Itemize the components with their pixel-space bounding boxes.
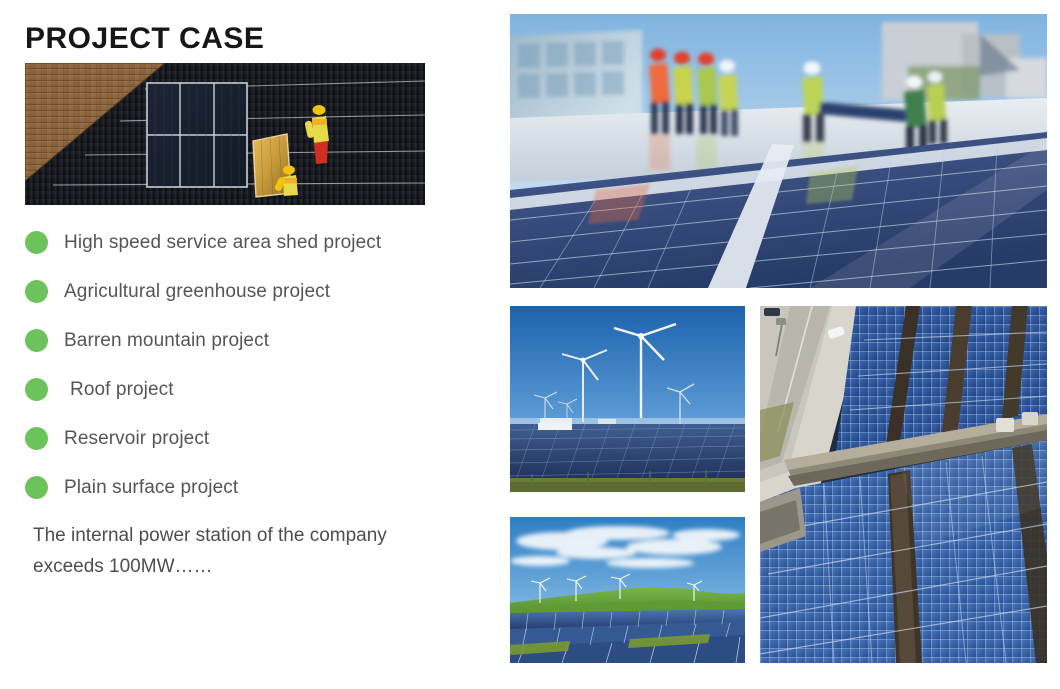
windfarm-photo-artwork	[510, 306, 745, 492]
roof-photo-artwork	[25, 63, 425, 205]
project-label: Agricultural greenhouse project	[64, 281, 330, 303]
hills-photo-artwork	[510, 517, 745, 663]
list-item[interactable]: Agricultural greenhouse project	[25, 267, 485, 316]
rooftop-solar-installation-photo	[25, 63, 425, 205]
list-item[interactable]: Roof project	[25, 365, 485, 414]
project-list: High speed service area shed project Agr…	[25, 218, 485, 512]
page-title: PROJECT CASE	[25, 22, 264, 56]
rooftop-plant-workers-photo	[510, 14, 1047, 288]
green-dot-icon	[25, 280, 48, 303]
green-dot-icon	[25, 329, 48, 352]
hero-photo-artwork	[510, 14, 1047, 288]
project-label: Plain surface project	[64, 477, 238, 499]
list-item[interactable]: Reservoir project	[25, 414, 485, 463]
project-label: High speed service area shed project	[64, 232, 381, 254]
aerial-rooftop-array-photo	[760, 306, 1047, 663]
project-label: Roof project	[64, 379, 174, 401]
wind-and-solar-farm-photo	[510, 306, 745, 492]
project-label: Barren mountain project	[64, 330, 269, 352]
green-hills-solar-farm-photo	[510, 517, 745, 663]
green-dot-icon	[25, 427, 48, 450]
list-item[interactable]: Plain surface project	[25, 463, 485, 512]
list-item[interactable]: High speed service area shed project	[25, 218, 485, 267]
green-dot-icon	[25, 378, 48, 401]
project-case-slide: PROJECT CASE	[0, 0, 1060, 689]
green-dot-icon	[25, 476, 48, 499]
summary-note: The internal power station of the compan…	[33, 520, 453, 582]
aerial-photo-artwork	[760, 306, 1047, 663]
list-item[interactable]: Barren mountain project	[25, 316, 485, 365]
left-content-column: PROJECT CASE	[0, 0, 500, 689]
project-label: Reservoir project	[64, 428, 209, 450]
green-dot-icon	[25, 231, 48, 254]
